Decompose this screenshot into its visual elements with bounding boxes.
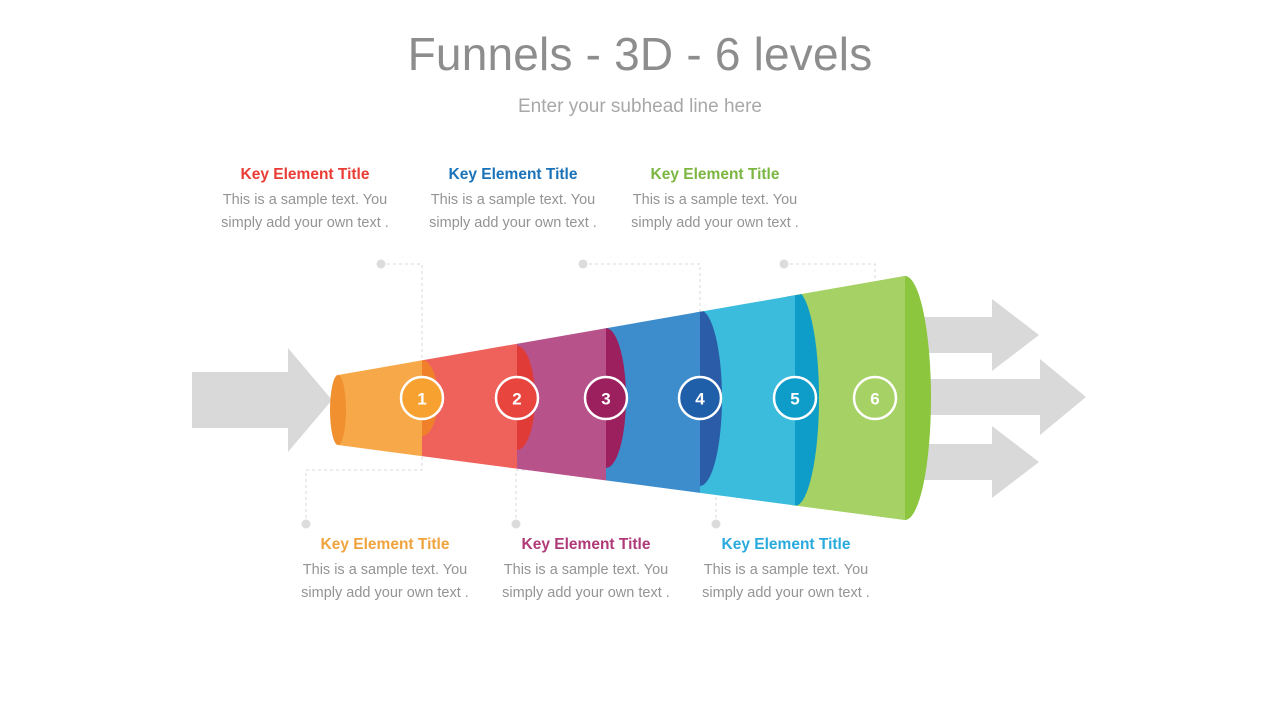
key-element-top-2-title: Key Element Title — [413, 164, 613, 185]
key-element-bottom-2-body: This is a sample text. You simply add yo… — [486, 559, 686, 605]
connector-top-1 — [381, 264, 422, 378]
key-element-bottom-1[interactable]: Key Element Title This is a sample text.… — [285, 534, 485, 605]
marker-2-number: 2 — [512, 390, 521, 409]
funnel-marker-1[interactable]: 1 — [401, 377, 443, 419]
key-element-top-3-body: This is a sample text. You simply add yo… — [615, 189, 815, 235]
key-element-top-3-title: Key Element Title — [615, 164, 815, 185]
marker-4-number: 4 — [695, 390, 705, 409]
funnel-marker-5[interactable]: 5 — [774, 377, 816, 419]
key-element-bottom-3-title: Key Element Title — [686, 534, 886, 555]
key-element-bottom-3-body: This is a sample text. You simply add yo… — [686, 559, 886, 605]
funnel-left-cap — [330, 375, 346, 445]
key-element-top-1[interactable]: Key Element Title This is a sample text.… — [205, 164, 405, 235]
bottom-connector-dots — [302, 520, 721, 529]
key-element-bottom-2-title: Key Element Title — [486, 534, 686, 555]
funnel-marker-2[interactable]: 2 — [496, 377, 538, 419]
slide-canvas: Funnels - 3D - 6 levels Enter your subhe… — [0, 0, 1280, 720]
key-element-bottom-2[interactable]: Key Element Title This is a sample text.… — [486, 534, 686, 605]
key-element-top-3[interactable]: Key Element Title This is a sample text.… — [615, 164, 815, 235]
input-arrow — [192, 348, 332, 452]
funnel-marker-4[interactable]: 4 — [679, 377, 721, 419]
key-element-top-2[interactable]: Key Element Title This is a sample text.… — [413, 164, 613, 235]
funnel-marker-3[interactable]: 3 — [585, 377, 627, 419]
marker-3-number: 3 — [601, 390, 610, 409]
top-connector-dots — [377, 260, 789, 269]
marker-1-number: 1 — [417, 390, 426, 409]
key-element-bottom-1-title: Key Element Title — [285, 534, 485, 555]
key-element-bottom-3[interactable]: Key Element Title This is a sample text.… — [686, 534, 886, 605]
key-element-top-1-title: Key Element Title — [205, 164, 405, 185]
funnel-diagram: 1 2 3 4 5 6 — [0, 0, 1280, 720]
marker-6-number: 6 — [870, 390, 879, 409]
marker-5-number: 5 — [790, 390, 799, 409]
key-element-top-1-body: This is a sample text. You simply add yo… — [205, 189, 405, 235]
key-element-top-2-body: This is a sample text. You simply add yo… — [413, 189, 613, 235]
key-element-bottom-1-body: This is a sample text. You simply add yo… — [285, 559, 485, 605]
